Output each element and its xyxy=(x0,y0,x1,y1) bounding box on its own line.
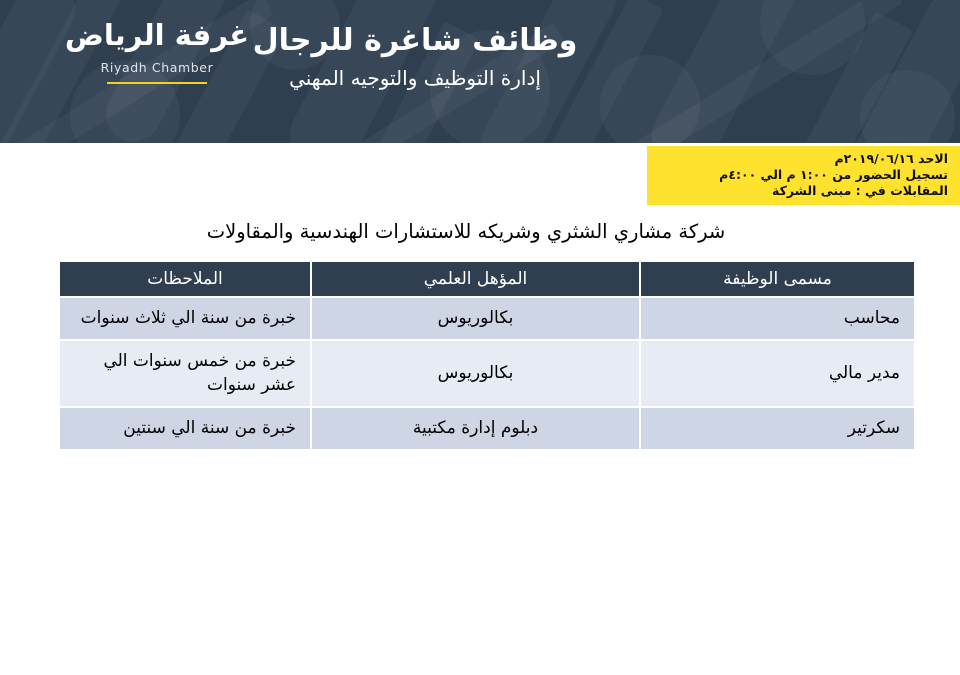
job-vacancies-table: مسمى الوظيفة المؤهل العلمي الملاحظات محا… xyxy=(58,260,916,451)
table-row: محاسب بكالوريوس خبرة من سنة الي ثلاث سنو… xyxy=(60,298,914,339)
logo-arabic-wordmark: غرفة الرياض xyxy=(62,20,252,52)
table-row: سكرتير دبلوم إدارة مكتبية خبرة من سنة ال… xyxy=(60,408,914,449)
cell-notes: خبرة من سنة الي ثلاث سنوات xyxy=(60,298,310,339)
riyadh-chamber-logo: غرفة الرياض Riyadh Chamber xyxy=(62,20,252,84)
column-header-job-title: مسمى الوظيفة xyxy=(641,262,914,296)
event-registration-time-line: تسجيل الحضور من ١:٠٠ م الي ٤:٠٠م xyxy=(655,167,948,183)
event-details-box: الاحد ٢٠١٩/٠٦/١٦م تسجيل الحضور من ١:٠٠ م… xyxy=(647,146,960,205)
column-header-qualification: المؤهل العلمي xyxy=(312,262,639,296)
cell-notes: خبرة من سنة الي سنتين xyxy=(60,408,310,449)
event-location-line: المقابلات في : مبنى الشركة xyxy=(655,183,948,199)
cell-job-title: سكرتير xyxy=(641,408,914,449)
cell-qualification: بكالوريوس xyxy=(312,298,639,339)
cell-notes: خبرة من خمس سنوات الي عشر سنوات xyxy=(60,341,310,406)
cell-qualification: دبلوم إدارة مكتبية xyxy=(312,408,639,449)
page-header-banner: وظائف شاغرة للرجال إدارة التوظيف والتوجي… xyxy=(0,0,960,143)
cell-qualification: بكالوريوس xyxy=(312,341,639,406)
table-row: مدير مالي بكالوريوس خبرة من خمس سنوات ال… xyxy=(60,341,914,406)
banner-heading-group: وظائف شاغرة للرجال إدارة التوظيف والتوجي… xyxy=(200,22,630,92)
logo-underline-rule xyxy=(107,82,207,84)
banner-title: وظائف شاغرة للرجال xyxy=(200,22,630,60)
cell-job-title: محاسب xyxy=(641,298,914,339)
company-name-heading: شركة مشاري الشثري وشريكه للاستشارات الهن… xyxy=(0,219,932,244)
event-date-line: الاحد ٢٠١٩/٠٦/١٦م xyxy=(655,151,948,167)
banner-subtitle: إدارة التوظيف والتوجيه المهني xyxy=(200,64,630,92)
column-header-notes: الملاحظات xyxy=(60,262,310,296)
table-header-row: مسمى الوظيفة المؤهل العلمي الملاحظات xyxy=(60,262,914,296)
cell-job-title: مدير مالي xyxy=(641,341,914,406)
logo-latin-wordmark: Riyadh Chamber xyxy=(62,60,252,75)
